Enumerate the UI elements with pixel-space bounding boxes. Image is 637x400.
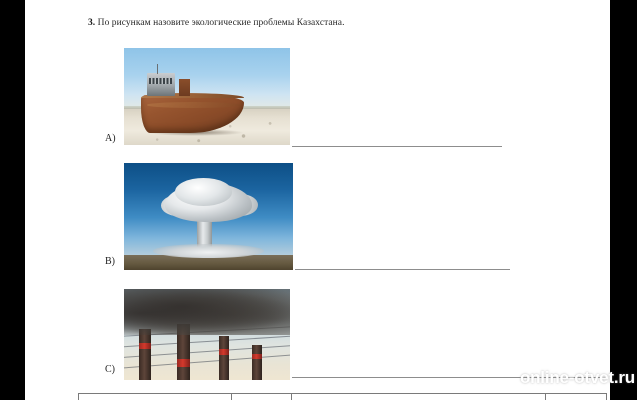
answer-table xyxy=(78,393,607,400)
option-label-b: B) xyxy=(105,256,115,267)
option-label-c: C) xyxy=(105,364,115,375)
smokestack-red-band xyxy=(219,349,230,354)
ship-cabin-windows xyxy=(149,78,172,84)
smokestack-1 xyxy=(139,329,151,380)
smokestack-red-band xyxy=(177,359,189,367)
answer-line-b[interactable] xyxy=(295,269,510,270)
site-watermark: online-otvet.ru xyxy=(520,368,635,388)
table-column-divider xyxy=(291,394,292,400)
question-text: По рисункам назовите экологические пробл… xyxy=(98,18,345,28)
table-column-divider xyxy=(231,394,232,400)
scanned-worksheet-page: 3. По рисункам назовите экологические пр… xyxy=(25,0,610,400)
smoke-plume xyxy=(124,289,290,335)
mushroom-cloud-top xyxy=(175,178,232,206)
ship-cabin xyxy=(147,73,175,96)
ship-mast xyxy=(157,64,158,74)
answer-line-a[interactable] xyxy=(292,146,502,147)
option-label-a: A) xyxy=(105,133,116,144)
smokestack-red-band xyxy=(252,354,262,358)
nuclear-explosion-photo xyxy=(124,163,293,270)
aral-sea-shipwreck-photo xyxy=(124,48,290,145)
question-number: 3. xyxy=(88,18,95,28)
smokestack-red-band xyxy=(139,343,151,350)
smokestack-3 xyxy=(219,336,230,380)
smokestack-4 xyxy=(252,345,262,380)
question-heading: 3. По рисункам назовите экологические пр… xyxy=(88,18,345,28)
ship-funnel xyxy=(179,79,191,96)
screenshot-frame: 3. По рисункам назовите экологические пр… xyxy=(0,0,637,400)
table-column-divider xyxy=(545,394,546,400)
factory-smokestacks-photo xyxy=(124,289,290,380)
